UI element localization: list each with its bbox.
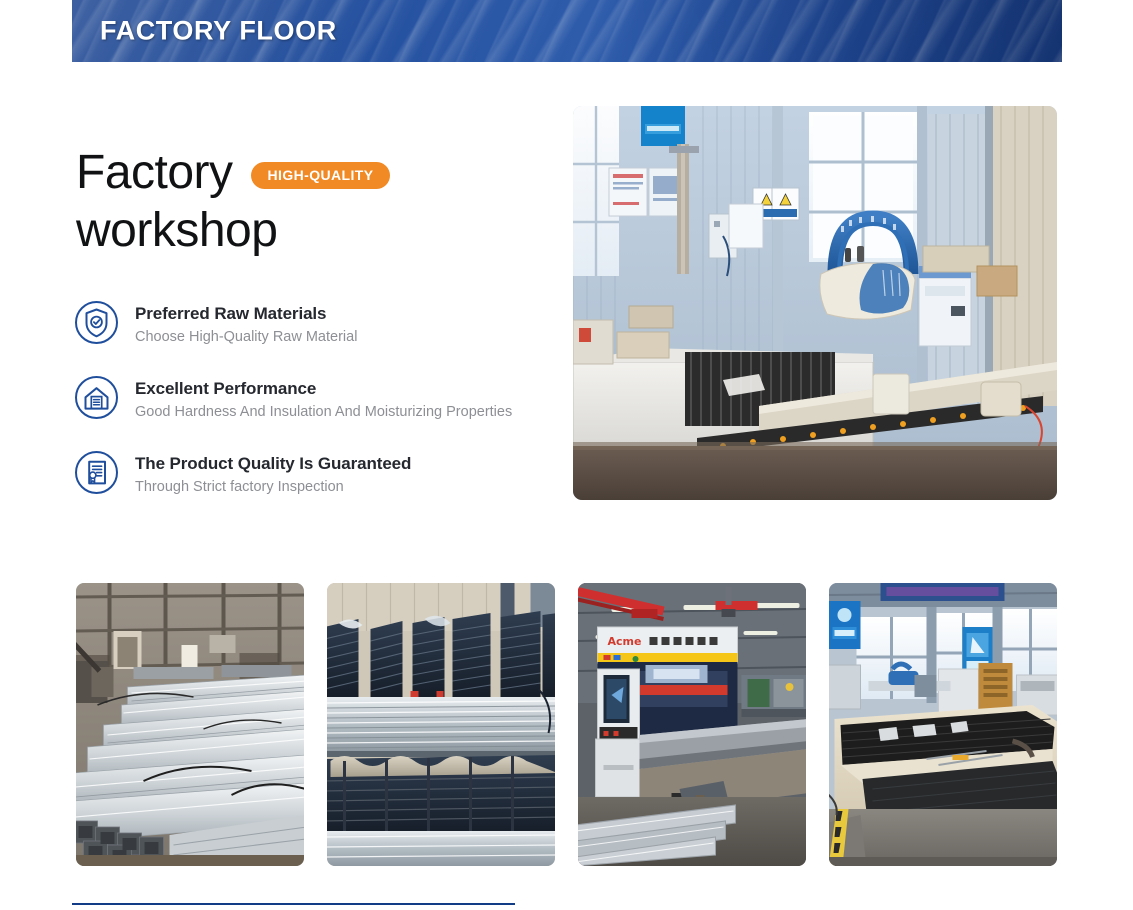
thumbnail-gallery: Acme	[76, 583, 1057, 866]
thumbnail-bodor-laser-cutter[interactable]: bodor	[829, 583, 1057, 866]
list-item: Excellent Performance Good Hardness And …	[74, 375, 554, 423]
feature-title: Preferred Raw Materials	[135, 302, 357, 325]
factory-floor-page: FACTORY FLOOR Factory HIGH-QUALITY works…	[0, 0, 1133, 910]
feature-list: Preferred Raw Materials Choose High-Qual…	[74, 300, 554, 498]
headline-block: Factory HIGH-QUALITY workshop	[76, 144, 546, 260]
list-item: The Product Quality Is Guaranteed Throug…	[74, 450, 554, 498]
headline-line-2: workshop	[76, 202, 546, 260]
certificate-icon	[74, 450, 119, 495]
page-title: FACTORY FLOOR	[100, 16, 337, 47]
list-item: Preferred Raw Materials Choose High-Qual…	[74, 300, 554, 348]
factory-workshop-cnc-machine-photo	[573, 106, 1057, 500]
feature-text-group: Excellent Performance Good Hardness And …	[135, 375, 512, 423]
svg-text:Acme: Acme	[608, 635, 642, 648]
shield-check-icon	[74, 300, 119, 345]
feature-text-group: Preferred Raw Materials Choose High-Qual…	[135, 300, 357, 348]
section-divider	[72, 903, 515, 905]
thumbnail-corrugated-sheets[interactable]	[327, 583, 555, 866]
feature-subtitle: Choose High-Quality Raw Material	[135, 326, 357, 348]
page-header-banner: FACTORY FLOOR	[72, 0, 1062, 62]
thumbnail-laser-tube-cutter[interactable]: Acme	[578, 583, 806, 866]
feature-subtitle: Good Hardness And Insulation And Moistur…	[135, 401, 512, 423]
feature-subtitle: Through Strict factory Inspection	[135, 476, 411, 498]
headline-line-1: Factory	[76, 144, 233, 202]
status-badge: HIGH-QUALITY	[251, 162, 391, 189]
feature-title: Excellent Performance	[135, 377, 512, 400]
headline-row-one: Factory HIGH-QUALITY	[76, 144, 546, 202]
feature-title: The Product Quality Is Guaranteed	[135, 452, 411, 475]
thumbnail-steel-profiles[interactable]	[76, 583, 304, 866]
feature-text-group: The Product Quality Is Guaranteed Throug…	[135, 450, 411, 498]
warehouse-icon	[74, 375, 119, 420]
